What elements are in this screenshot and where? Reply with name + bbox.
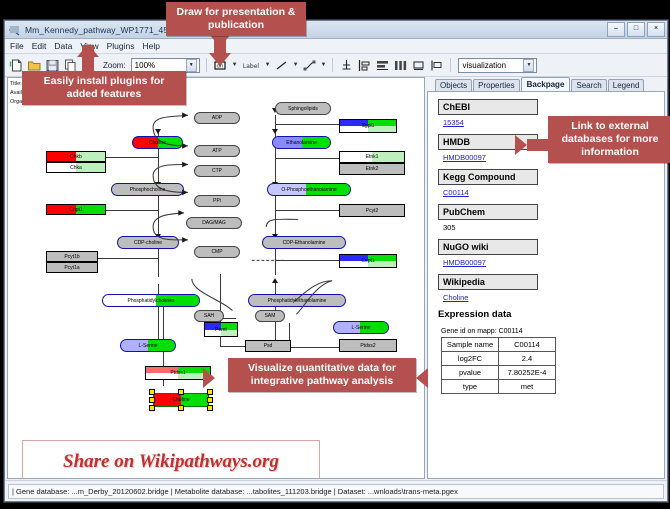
- node-label: O-Phosphoethanolamine: [281, 187, 336, 193]
- svg-text:Label: Label: [243, 63, 260, 70]
- callout-link: Link to external databases for more info…: [548, 116, 670, 163]
- menu-item-plugins[interactable]: Plugins: [107, 41, 135, 51]
- node-label: Etnk2: [366, 166, 379, 172]
- edge-chpt1: [104, 210, 158, 211]
- node-pemt[interactable]: Pemt: [204, 322, 238, 337]
- node-adp[interactable]: ADP: [194, 112, 240, 124]
- table-row: log2FC 2.4: [442, 352, 556, 366]
- zoom-label: Zoom:: [103, 61, 126, 70]
- node-etnk2[interactable]: Etnk2: [339, 163, 405, 175]
- node-label: L-Serine: [139, 343, 158, 349]
- status-text: | Gene database: ...m_Derby_20120602.bri…: [8, 484, 664, 499]
- node-label: Chpt1: [69, 207, 82, 213]
- tab-objects[interactable]: Objects: [435, 79, 472, 91]
- selection-handle-bl[interactable]: [149, 405, 155, 411]
- node-label: CDP-Ethanolamine: [283, 240, 326, 246]
- node-choline-top[interactable]: Choline: [132, 136, 183, 149]
- node-chpt1[interactable]: Chpt1: [46, 204, 106, 215]
- group-icon[interactable]: [411, 58, 426, 73]
- callout-draw-arrowhead: [209, 53, 231, 66]
- label-icon[interactable]: Label: [241, 58, 261, 73]
- db-value-pubchem: 305: [443, 223, 664, 232]
- expr-value: C00114: [499, 338, 556, 352]
- node-label: Ptdss2: [360, 343, 375, 349]
- callout-visualize-pointer: [416, 368, 428, 388]
- order-icon[interactable]: [429, 58, 444, 73]
- callout-visualize-pointer-left: [203, 368, 215, 388]
- tab-backpage[interactable]: Backpage: [521, 77, 571, 91]
- screenshot-root: Mm_Kennedy_pathway_WP1771_45176.gpml – □…: [0, 0, 670, 509]
- edge-cept1: [275, 260, 339, 261]
- edge-ptdss2: [289, 347, 339, 348]
- table-row: pvalue 7.80252E-4: [442, 366, 556, 380]
- share-banner: Share on Wikipathways.org: [22, 440, 320, 479]
- arrow-to-phosphoetn: [272, 129, 278, 134]
- callout-visualize: Visualize quantitative data for integrat…: [228, 358, 416, 392]
- node-l-serine-left[interactable]: L-Serine: [120, 339, 176, 352]
- node-label: Phosphocholine: [130, 187, 166, 193]
- menu-item-edit[interactable]: Edit: [32, 41, 47, 51]
- node-label: Pcyt1b: [64, 254, 79, 260]
- expr-value: 7.80252E-4: [499, 366, 556, 380]
- edge-choline-trunk-2: [158, 284, 159, 342]
- expression-table: Sample name C00114 log2FC 2.4 pvalue 7.8…: [441, 337, 556, 394]
- tab-search[interactable]: Search: [571, 79, 606, 91]
- node-ptdss1[interactable]: Ptdss1: [145, 366, 211, 380]
- node-chka[interactable]: Chka: [46, 162, 106, 173]
- node-label: Psd: [264, 343, 273, 349]
- node-pcyt1b[interactable]: Pcyt1b: [46, 251, 98, 262]
- menu-bar: File Edit Data View Plugins Help: [5, 39, 667, 54]
- db-link-wikipedia[interactable]: Choline: [443, 293, 664, 302]
- edge-etnk: [275, 158, 342, 159]
- edge-psd: [220, 346, 245, 347]
- node-cdp-ethanolamine[interactable]: CDP-Ethanolamine: [262, 236, 346, 249]
- canvas-label-title: Title:: [10, 81, 22, 87]
- menu-item-file[interactable]: File: [10, 41, 24, 51]
- node-label: PPi: [213, 198, 221, 204]
- visualization-combo[interactable]: visualization ▼: [458, 58, 537, 73]
- app-icon: [9, 24, 20, 35]
- node-label: Phosphatidylcholines: [128, 298, 175, 304]
- label-dropdown-icon[interactable]: ▼: [265, 62, 271, 68]
- distribute-icon[interactable]: [393, 58, 408, 73]
- node-o-phosphoethanolamine[interactable]: O-Phosphoethanolamine: [267, 183, 351, 196]
- line-dropdown-icon[interactable]: ▼: [293, 62, 299, 68]
- tab-legend[interactable]: Legend: [608, 79, 645, 91]
- node-label: Chkb: [70, 154, 82, 160]
- edge-pcyt2: [275, 210, 342, 211]
- expression-data-heading: Expression data: [438, 309, 664, 320]
- node-label: Phosphatidylethanolamine: [268, 298, 327, 304]
- edge-pcyt1: [96, 258, 158, 259]
- interaction-dropdown-icon[interactable]: ▼: [321, 62, 327, 68]
- tab-properties[interactable]: Properties: [473, 79, 519, 91]
- node-ethanolamine[interactable]: Ethanolamine: [272, 136, 331, 149]
- toolbar-separator: [206, 58, 207, 72]
- node-pcyt1a[interactable]: Pcyt1a: [46, 262, 98, 273]
- node-chkb[interactable]: Chkb: [46, 151, 106, 162]
- expr-value: met: [499, 380, 556, 394]
- selection-handle-bc[interactable]: [178, 405, 184, 411]
- node-label: Choline: [173, 397, 190, 403]
- node-phosphatidylcholines[interactable]: Phosphatidylcholines: [102, 294, 200, 307]
- db-header-kegg-compound: Kegg Compound: [438, 169, 538, 185]
- callout-plugins: Easily install plugins for added feature…: [22, 71, 186, 105]
- node-cmp[interactable]: CMP: [194, 246, 240, 258]
- db-header-wikipedia: Wikipedia: [438, 274, 538, 290]
- callout-link-stem: [527, 139, 549, 151]
- table-row: Sample name C00114: [442, 338, 556, 352]
- db-link-nugo-wiki[interactable]: HMDB00097: [443, 258, 664, 267]
- chevron-down-icon[interactable]: ▼: [186, 59, 197, 72]
- node-label: CMP: [211, 249, 222, 255]
- node-label: Pcyt2: [366, 208, 379, 214]
- node-label: Ptdss1: [170, 370, 185, 376]
- edge-sgpl1: [275, 124, 339, 125]
- node-label: CDP-choline: [134, 240, 162, 246]
- node-sah[interactable]: SAH: [194, 310, 224, 322]
- selection-handle-mr[interactable]: [207, 397, 213, 403]
- node-label: CTP: [212, 168, 222, 174]
- datanode-dropdown-icon[interactable]: ▼: [232, 62, 238, 68]
- align-left-icon[interactable]: [357, 58, 372, 73]
- toolbar-separator-2: [332, 58, 333, 72]
- node-label: Pemt: [215, 327, 227, 333]
- align-rows-icon[interactable]: [375, 58, 390, 73]
- callout-plugins-pointer: [77, 44, 99, 57]
- node-label: ATP: [212, 148, 221, 154]
- node-ctp[interactable]: CTP: [194, 165, 240, 177]
- node-phosphocholine[interactable]: Phosphocholine: [111, 183, 184, 196]
- expr-value: 2.4: [499, 352, 556, 366]
- expr-key: pvalue: [442, 366, 499, 380]
- node-label: L-Serine: [352, 325, 371, 331]
- anchor-icon[interactable]: [339, 58, 354, 73]
- node-pcyt2[interactable]: Pcyt2: [339, 204, 405, 217]
- node-label: Sphingolipids: [288, 106, 318, 112]
- node-atp[interactable]: ATP: [194, 145, 240, 157]
- node-sam[interactable]: SAM: [255, 310, 285, 322]
- node-label: Choline: [149, 140, 166, 146]
- node-dagmag[interactable]: DAG/MAG: [186, 217, 242, 229]
- interaction-icon[interactable]: [302, 58, 317, 73]
- visualization-value: visualization: [462, 61, 506, 70]
- node-label: SAM: [265, 313, 276, 319]
- db-header-chebi: ChEBI: [438, 99, 538, 115]
- arrow-psd-up: [272, 278, 278, 283]
- expr-key: type: [442, 380, 499, 394]
- node-l-serine-right[interactable]: L-Serine: [333, 321, 389, 334]
- node-sphingolipids[interactable]: Sphingolipids: [275, 102, 331, 115]
- selection-handle-ml[interactable]: [149, 397, 155, 403]
- window-controls: – □ ×: [607, 22, 665, 37]
- node-label: DAG/MAG: [202, 220, 226, 226]
- callout-link-pointer: [515, 135, 527, 155]
- table-row: type met: [442, 380, 556, 394]
- node-ptdss2[interactable]: Ptdss2: [339, 339, 397, 352]
- selection-handle-tr[interactable]: [207, 389, 213, 395]
- node-label: Etnk1: [366, 154, 379, 160]
- share-banner-text: Share on Wikipathways.org: [63, 451, 279, 473]
- line-icon[interactable]: [274, 58, 289, 73]
- node-label: Ethanolamine: [286, 140, 317, 146]
- expr-key: log2FC: [442, 352, 499, 366]
- edge-chk: [104, 157, 158, 158]
- maximize-button[interactable]: □: [627, 22, 645, 37]
- selection-handle-tc[interactable]: [178, 389, 184, 395]
- side-panel-tabs: Objects Properties Backpage Search Legen…: [427, 77, 665, 91]
- db-header-nugo-wiki: NuGO wiki: [438, 239, 538, 255]
- minimize-button[interactable]: –: [607, 22, 625, 37]
- selection-handle-br[interactable]: [207, 405, 213, 411]
- close-button[interactable]: ×: [647, 22, 665, 37]
- node-phosphatidylethanolamine[interactable]: Phosphatidylethanolamine: [248, 294, 346, 307]
- node-psd[interactable]: Psd: [245, 340, 291, 352]
- db-header-pubchem: PubChem: [438, 204, 538, 220]
- db-link-kegg-compound[interactable]: C00114: [443, 188, 664, 197]
- node-label: Cept1: [361, 258, 374, 264]
- callout-draw: Draw for presentation & publication: [166, 2, 306, 36]
- node-etnk1[interactable]: Etnk1: [339, 151, 405, 163]
- reaction-curves: [8, 78, 424, 478]
- status-bar: | Gene database: ...m_Derby_20120602.bri…: [5, 480, 667, 501]
- gene-id-line: Gene id on mapp: C00114: [441, 328, 664, 335]
- node-sgpl1[interactable]: Sgpl1: [339, 119, 397, 133]
- expr-key: Sample name: [442, 338, 499, 352]
- node-cdp-choline[interactable]: CDP-choline: [117, 236, 179, 249]
- menu-item-help[interactable]: Help: [143, 41, 160, 51]
- selection-handle-tl[interactable]: [149, 389, 155, 395]
- title-bar: Mm_Kennedy_pathway_WP1771_45176.gpml – □…: [5, 21, 667, 39]
- node-label: Pcyt1a: [64, 265, 79, 271]
- visualization-chevron-down-icon[interactable]: ▼: [523, 59, 534, 72]
- edge-choline-trunk: [158, 131, 159, 277]
- node-label: ADP: [212, 115, 222, 121]
- node-label: Sgpl1: [362, 123, 375, 129]
- zoom-value: 100%: [135, 61, 155, 70]
- toolbar-separator-3: [450, 58, 451, 72]
- pathway-canvas[interactable]: Title: Availa Organ: [7, 77, 425, 479]
- menu-item-data[interactable]: Data: [54, 41, 72, 51]
- node-label: Chka: [70, 165, 82, 171]
- node-ppi[interactable]: PPi: [194, 195, 240, 207]
- node-label: SAH: [204, 313, 214, 319]
- node-cept1[interactable]: Cept1: [339, 254, 397, 268]
- arrow-to-phosphocholine: [155, 129, 161, 134]
